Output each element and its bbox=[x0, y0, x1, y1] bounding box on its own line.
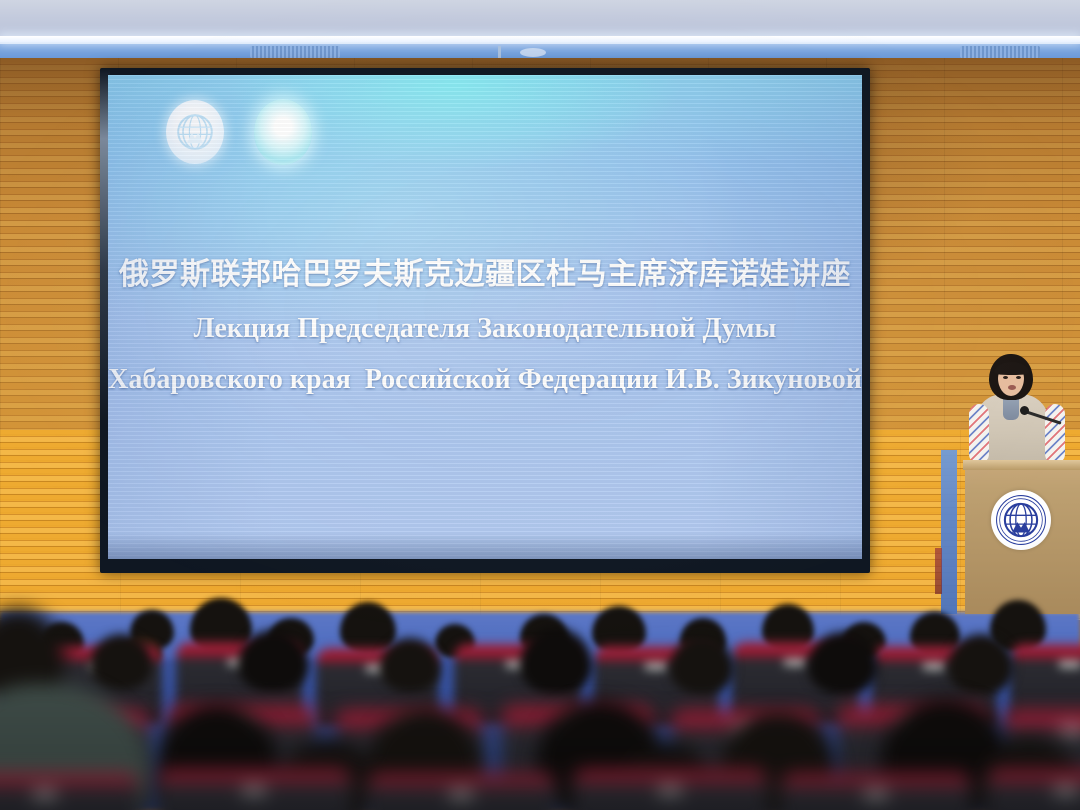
slide-title-chinese: 俄罗斯联邦哈巴罗夫斯克边疆区杜马主席济库诺娃讲座 bbox=[108, 258, 862, 292]
audience-head bbox=[520, 628, 592, 694]
seat-tag bbox=[34, 791, 56, 798]
seat-tag bbox=[645, 663, 667, 670]
seat-tag bbox=[450, 791, 472, 798]
speaker-sleeve-right bbox=[1045, 404, 1065, 464]
speaker-eye bbox=[1003, 376, 1008, 379]
ceiling-fixture bbox=[498, 46, 501, 58]
auditorium-seat bbox=[0, 774, 140, 810]
lecture-hall-photo: 俄罗斯联邦哈巴罗夫斯克边疆区杜马主席济库诺娃讲座 Лекция Председа… bbox=[0, 0, 1080, 810]
seat-tag bbox=[923, 663, 945, 670]
audience-head bbox=[948, 634, 1014, 694]
ceiling-vent-icon bbox=[960, 46, 1040, 58]
auditorium-seat bbox=[366, 774, 556, 810]
speaker-eye bbox=[1016, 376, 1021, 379]
slide-text-block: 俄罗斯联邦哈巴罗夫斯克边疆区杜马主席济库诺娃讲座 Лекция Председа… bbox=[108, 258, 862, 395]
auditorium-seat bbox=[986, 770, 1080, 810]
audience-head bbox=[340, 602, 396, 654]
seat-tag bbox=[865, 791, 887, 798]
audience bbox=[0, 588, 1080, 810]
audience-head bbox=[670, 636, 734, 694]
seat-tag bbox=[784, 659, 806, 666]
audience-head bbox=[380, 638, 440, 692]
seat-tag bbox=[243, 787, 265, 794]
seat-tag bbox=[1061, 727, 1080, 734]
seat-tag bbox=[1055, 787, 1077, 794]
ceiling-vent-icon bbox=[250, 46, 340, 58]
speaker-mouth bbox=[1008, 385, 1016, 390]
projection-screen[interactable]: 俄罗斯联邦哈巴罗夫斯克边疆区杜马主席济库诺娃讲座 Лекция Председа… bbox=[108, 75, 862, 559]
projection-screen-frame: 俄罗斯联邦哈巴罗夫斯克边疆区杜马主席济库诺娃讲座 Лекция Председа… bbox=[100, 68, 870, 573]
auditorium-seat bbox=[780, 774, 972, 810]
ceiling bbox=[0, 0, 1080, 40]
globe-emblem-icon bbox=[166, 100, 224, 164]
auditorium-seat bbox=[572, 770, 768, 810]
glow-circle-icon bbox=[254, 99, 312, 165]
audience-head bbox=[90, 634, 152, 690]
auditorium-seat bbox=[156, 770, 352, 810]
speaker-sleeve-left bbox=[969, 404, 989, 464]
screen-bottom-shadow bbox=[108, 533, 862, 559]
podium-desktop bbox=[963, 460, 1080, 470]
ceiling-led-strip bbox=[0, 36, 1080, 42]
slide-title-russian-line2: Хабаровского края Российской Федерации И… bbox=[108, 364, 862, 395]
podium-area bbox=[963, 352, 1080, 614]
slide-title-russian-line1: Лекция Председателя Законодательной Думы bbox=[108, 313, 862, 344]
globe-seal-icon bbox=[991, 490, 1051, 550]
ceiling-speaker-icon bbox=[520, 48, 546, 57]
audience-head bbox=[808, 632, 878, 694]
microphone-icon bbox=[1020, 406, 1029, 415]
seat-tag bbox=[659, 787, 681, 794]
audience-head bbox=[238, 630, 308, 692]
slide-logo-group bbox=[166, 99, 312, 165]
seat-tag bbox=[1059, 661, 1080, 668]
